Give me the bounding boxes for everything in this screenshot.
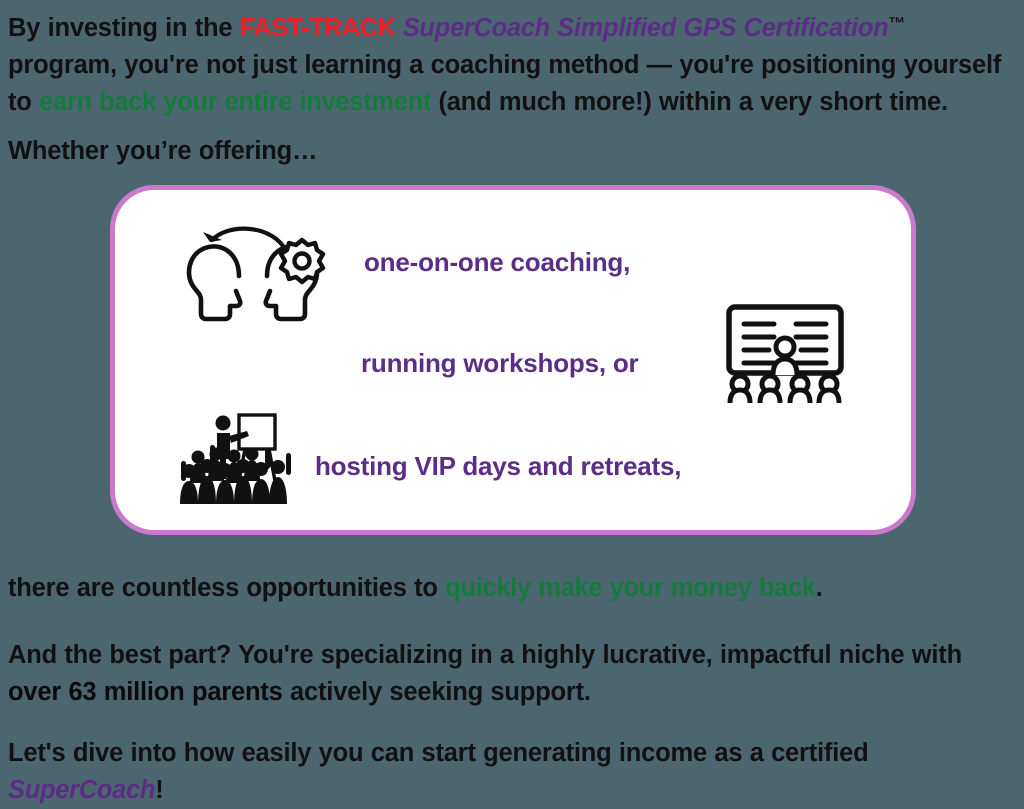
offering-label-vip-retreats: hosting VIP days and retreats, bbox=[315, 451, 681, 482]
parents-count-emphasis: over 63 million parents bbox=[8, 678, 283, 706]
brand-name-supercoach: SuperCoach bbox=[8, 776, 155, 804]
countless-opportunities-line: there are countless opportunities to qui… bbox=[8, 570, 823, 607]
dive-in-text-tail: ! bbox=[155, 776, 163, 804]
dive-in-paragraph: Let's dive into how easily you can start… bbox=[8, 735, 1016, 809]
countless-text-lead: there are countless opportunities to bbox=[8, 574, 445, 602]
crowd-flipchart-icon bbox=[177, 409, 297, 509]
presentation-audience-icon bbox=[722, 303, 848, 408]
countless-text-tail: . bbox=[816, 574, 823, 602]
offering-label-coaching: one-on-one coaching, bbox=[364, 247, 630, 278]
whether-offering-line: Whether you’re offering… bbox=[8, 133, 317, 170]
trademark-symbol: ™ bbox=[888, 14, 905, 33]
promo-page: By investing in the FAST-TRACK SuperCoac… bbox=[0, 0, 1024, 808]
dive-in-text-lead: Let's dive into how easily you can start… bbox=[8, 739, 868, 767]
best-part-paragraph: And the best part? You're specializing i… bbox=[8, 637, 1016, 711]
two-heads-gear-icon bbox=[179, 218, 329, 333]
earn-back-highlight: earn back your entire investment bbox=[39, 88, 431, 116]
intro-paragraph: By investing in the FAST-TRACK SuperCoac… bbox=[8, 5, 1016, 121]
brand-name-certification: SuperCoach Simplified GPS Certification bbox=[403, 14, 889, 42]
offerings-card: one-on-one coaching, running workshops, … bbox=[110, 185, 916, 535]
best-part-text-lead: And the best part? You're specializing i… bbox=[8, 641, 962, 669]
money-back-highlight: quickly make your money back bbox=[445, 574, 816, 602]
offering-label-workshops: running workshops, or bbox=[361, 348, 638, 379]
intro-space bbox=[395, 14, 402, 42]
fast-track-highlight: FAST-TRACK bbox=[240, 14, 396, 42]
intro-text-tail: (and much more!) within a very short tim… bbox=[431, 88, 948, 116]
best-part-text-tail: actively seeking support. bbox=[283, 678, 591, 706]
intro-text-lead: By investing in the bbox=[8, 14, 240, 42]
